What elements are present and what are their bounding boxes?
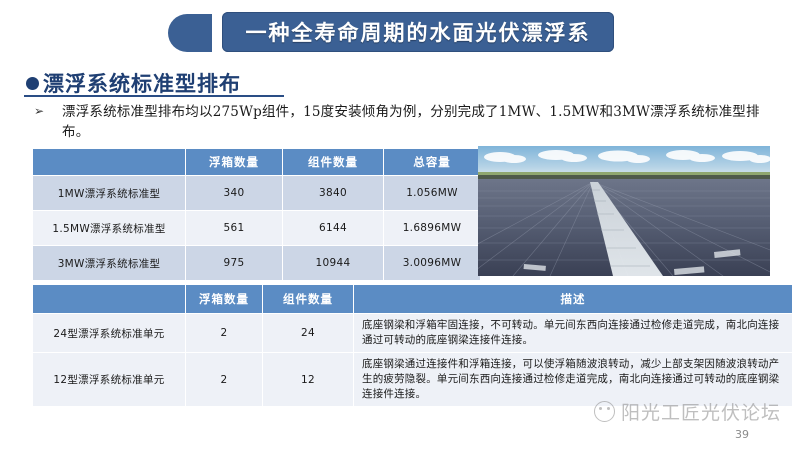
cell-capacity: 1.056MW	[384, 176, 481, 211]
slide-title-banner: 一种全寿命周期的水面光伏漂浮系	[0, 0, 800, 62]
table-header-row: 浮箱数量 组件数量 总容量	[33, 149, 481, 176]
cell-description: 底座钢梁和浮箱牢固连接，不可转动。单元间东西向连接通过检修走道完成，南北向连接通…	[354, 314, 793, 353]
col-header-modules: 组件数量	[263, 285, 354, 314]
col-header-capacity: 总容量	[384, 149, 481, 176]
col-header-name	[33, 149, 186, 176]
filled-circle-bullet-icon	[26, 77, 39, 90]
cell-name: 3MW漂浮系统标准型	[33, 246, 186, 281]
cell-modules: 6144	[283, 211, 384, 246]
slide-title-text: 一种全寿命周期的水面光伏漂浮系	[246, 17, 591, 47]
cell-description: 底座钢梁通过连接件和浮箱连接，可以使浮箱随波浪转动，减少上部支架因随波浪转动产生…	[354, 353, 793, 407]
cell-floats: 2	[186, 314, 263, 353]
cell-floats: 2	[186, 353, 263, 407]
section-heading: 漂浮系统标准型排布	[26, 68, 241, 98]
section-underline-divider	[24, 95, 284, 97]
col-header-modules: 组件数量	[283, 149, 384, 176]
section-heading-text: 漂浮系统标准型排布	[43, 68, 241, 98]
bullet-paragraph: ➢ 漂浮系统标准型排布均以275Wp组件，15度安装倾角为例，分别完成了1MW、…	[34, 102, 774, 142]
title-plate: 一种全寿命周期的水面光伏漂浮系	[222, 12, 614, 52]
cell-name: 24型漂浮系统标准单元	[33, 314, 186, 353]
cell-capacity: 3.0096MW	[384, 246, 481, 281]
page-number: 39	[735, 428, 749, 441]
cell-modules: 10944	[283, 246, 384, 281]
table-row: 1MW漂浮系统标准型 340 3840 1.056MW	[33, 176, 481, 211]
col-header-description: 描述	[354, 285, 793, 314]
arrow-bullet-icon: ➢	[34, 102, 62, 121]
standard-unit-table: 浮箱数量 组件数量 描述 24型漂浮系统标准单元 2 24 底座钢梁和浮箱牢固连…	[32, 284, 793, 407]
cell-name: 1MW漂浮系统标准型	[33, 176, 186, 211]
cell-modules: 3840	[283, 176, 384, 211]
capacity-table: 浮箱数量 组件数量 总容量 1MW漂浮系统标准型 340 3840 1.056M…	[32, 148, 481, 281]
table-header-row: 浮箱数量 组件数量 描述	[33, 285, 793, 314]
floating-solar-plant-photo	[478, 146, 770, 276]
cell-floats: 975	[186, 246, 283, 281]
cell-capacity: 1.6896MW	[384, 211, 481, 246]
cell-name: 1.5MW漂浮系统标准型	[33, 211, 186, 246]
table-row: 3MW漂浮系统标准型 975 10944 3.0096MW	[33, 246, 481, 281]
col-header-floats: 浮箱数量	[186, 149, 283, 176]
table-row: 24型漂浮系统标准单元 2 24 底座钢梁和浮箱牢固连接，不可转动。单元间东西向…	[33, 314, 793, 353]
cell-modules: 24	[263, 314, 354, 353]
cell-floats: 340	[186, 176, 283, 211]
title-left-cap-decoration	[168, 14, 212, 52]
bullet-paragraph-text: 漂浮系统标准型排布均以275Wp组件，15度安装倾角为例，分别完成了1MW、1.…	[62, 102, 762, 142]
table-row: 1.5MW漂浮系统标准型 561 6144 1.6896MW	[33, 211, 481, 246]
cell-floats: 561	[186, 211, 283, 246]
table-row: 12型漂浮系统标准单元 2 12 底座钢梁通过连接件和浮箱连接，可以使浮箱随波浪…	[33, 353, 793, 407]
cell-modules: 12	[263, 353, 354, 407]
cell-name: 12型漂浮系统标准单元	[33, 353, 186, 407]
col-header-floats: 浮箱数量	[186, 285, 263, 314]
col-header-name	[33, 285, 186, 314]
floating-solar-plant-illustration	[478, 146, 770, 276]
